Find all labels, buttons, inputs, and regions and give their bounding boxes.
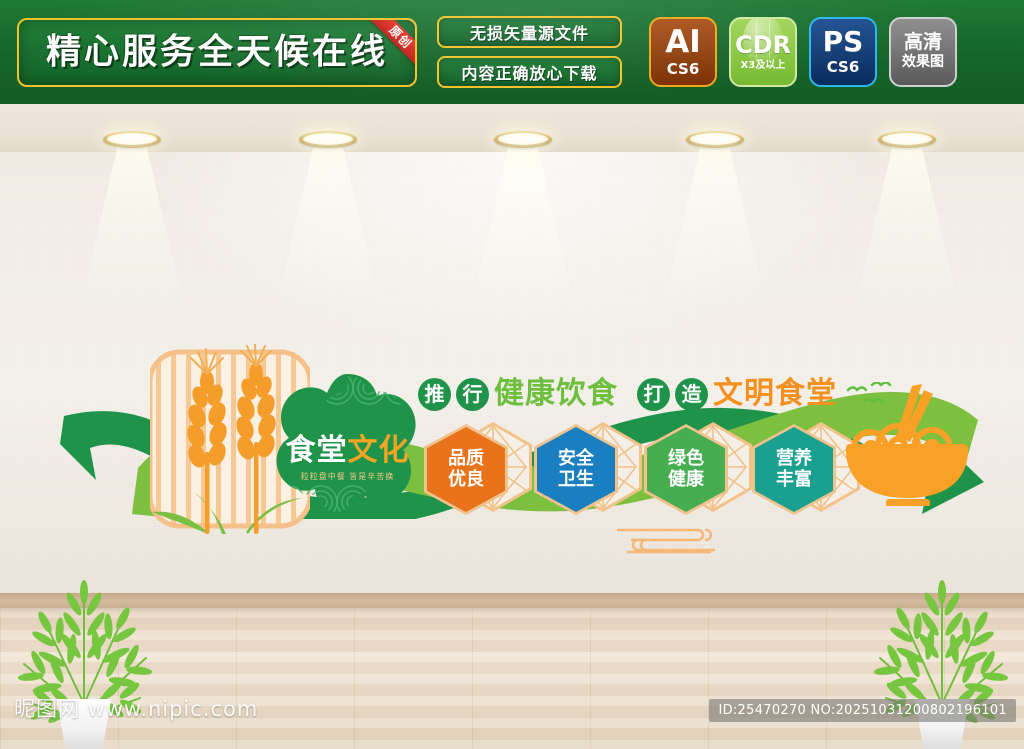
- hexagon-line2: 优良: [448, 469, 484, 490]
- ai-badge-sub: CS6: [667, 61, 700, 78]
- hexagon-line1: 营养: [776, 448, 812, 469]
- hexagon-line2: 健康: [668, 469, 704, 490]
- hexagon-line2: 卫生: [558, 469, 594, 490]
- software-badge-list: AI CS6 CDR X3及以上 PS CS6 高清 效果图: [649, 17, 957, 87]
- headline-circle-2: 行: [456, 378, 489, 411]
- wall-headline: 推 行 健康饮食 打 造 文明食堂: [418, 376, 837, 412]
- hexagon-nutrition: 营养丰富: [752, 422, 842, 517]
- headline-circle-4: 造: [675, 378, 708, 411]
- noodle-line-decoration: [614, 522, 719, 566]
- site-watermark: 昵图网 www.nipic.com: [14, 693, 258, 723]
- headline-circle-1: 推: [418, 378, 451, 411]
- promo-banner: 精心服务全天候在线 原创 无损矢量源文件 内容正确放心下载 AI CS6 CDR…: [0, 0, 1024, 104]
- promo-headline-text: 精心服务全天候在线: [19, 35, 415, 70]
- promo-pill-download: 内容正确放心下载: [437, 56, 622, 88]
- screenshot-root: 精心服务全天候在线 原创 无损矢量源文件 内容正确放心下载 AI CS6 CDR…: [0, 0, 1024, 749]
- canteen-culture-emblem: 食堂文化 粒粒盘中餐 皆是辛苦换: [275, 374, 420, 514]
- hd-badge-title: 高清: [904, 33, 942, 52]
- slogan-hexagon-row: 品质优良 安全卫生: [424, 422, 844, 517]
- ps-badge: PS CS6: [809, 17, 877, 87]
- hexagon-line2: 丰富: [776, 469, 812, 490]
- ai-badge-title: AI: [665, 27, 701, 58]
- hexagon-safety: 安全卫生: [534, 422, 624, 517]
- emblem-title-orange: 文化: [348, 433, 410, 468]
- hd-badge: 高清 效果图: [889, 17, 957, 87]
- hexagon-line1: 品质: [448, 448, 484, 469]
- hexagon-green-health: 绿色健康: [644, 422, 734, 517]
- headline-orange-word: 文明食堂: [713, 379, 837, 409]
- original-ribbon: 原创: [361, 18, 417, 74]
- promo-pill-vector: 无损矢量源文件: [437, 16, 622, 48]
- cdr-badge-title: CDR: [735, 33, 791, 57]
- cdr-badge: CDR X3及以上: [729, 17, 797, 87]
- emblem-title-white: 食堂: [286, 433, 348, 468]
- promo-pill-list: 无损矢量源文件 内容正确放心下载: [437, 16, 622, 88]
- cdr-badge-sub: X3及以上: [741, 60, 786, 71]
- emblem-text-group: 食堂文化 粒粒盘中餐 皆是辛苦换: [275, 436, 420, 481]
- headline-green-word: 健康饮食: [494, 379, 618, 409]
- hexagon-line1: 绿色: [668, 448, 704, 469]
- hexagon-line1: 安全: [558, 448, 594, 469]
- hd-badge-sub: 效果图: [902, 55, 944, 70]
- ai-badge: AI CS6: [649, 17, 717, 87]
- ps-badge-sub: CS6: [827, 59, 860, 76]
- original-ribbon-label: 原创: [364, 18, 417, 74]
- wall-art: 食堂文化 粒粒盘中餐 皆是辛苦换 推 行 健康饮食 打 造 文明食堂: [0, 104, 1024, 593]
- noodle-bowl-icon: [838, 376, 978, 506]
- promo-headline-box: 精心服务全天候在线 原创: [17, 18, 417, 87]
- image-id-watermark: ID:25470270 NO:20251031200802196101: [709, 699, 1016, 722]
- emblem-subtitle: 粒粒盘中餐 皆是辛苦换: [275, 473, 420, 481]
- room-scene: 食堂文化 粒粒盘中餐 皆是辛苦换 推 行 健康饮食 打 造 文明食堂: [0, 104, 1024, 749]
- headline-circle-3: 打: [637, 378, 670, 411]
- ps-badge-title: PS: [823, 28, 864, 56]
- hexagon-quality: 品质优良: [424, 422, 514, 517]
